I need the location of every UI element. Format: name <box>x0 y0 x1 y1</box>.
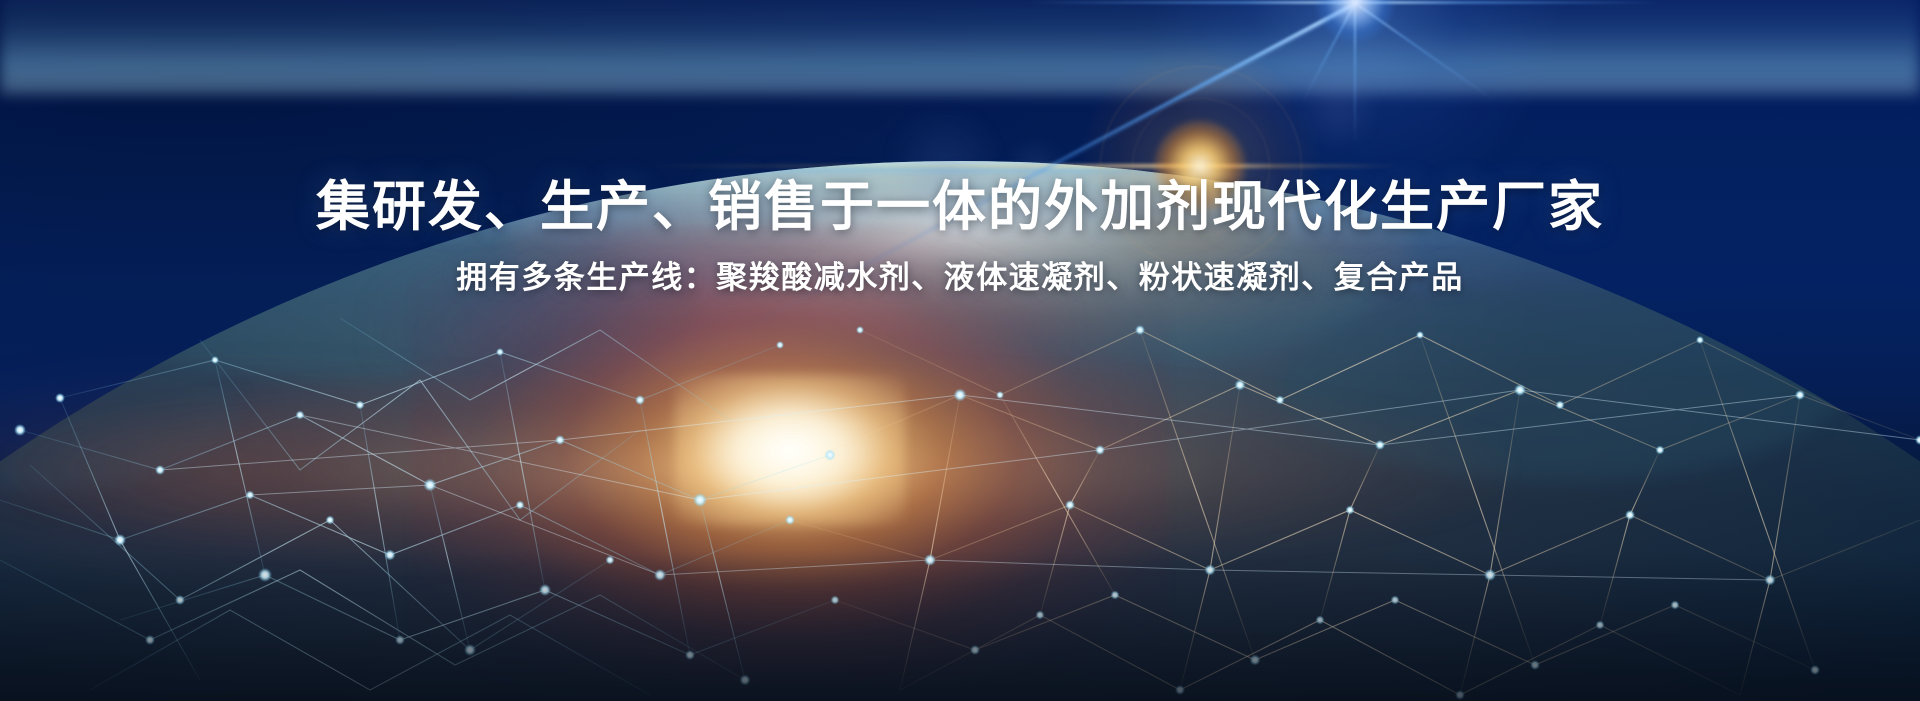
earth-rim-glow <box>0 161 1920 177</box>
banner-subheadline: 拥有多条生产线：聚羧酸减水剂、液体速凝剂、粉状速凝剂、复合产品 <box>0 258 1920 298</box>
atmosphere-glow <box>0 0 1920 94</box>
sunburst-core <box>675 375 905 525</box>
banner-headline: 集研发、生产、销售于一体的外加剂现代化生产厂家 <box>0 176 1920 240</box>
hero-banner: 集研发、生产、销售于一体的外加剂现代化生产厂家 拥有多条生产线：聚羧酸减水剂、液… <box>0 0 1920 701</box>
bottom-fade <box>0 551 1920 701</box>
banner-copy: 集研发、生产、销售于一体的外加剂现代化生产厂家 拥有多条生产线：聚羧酸减水剂、液… <box>0 176 1920 298</box>
